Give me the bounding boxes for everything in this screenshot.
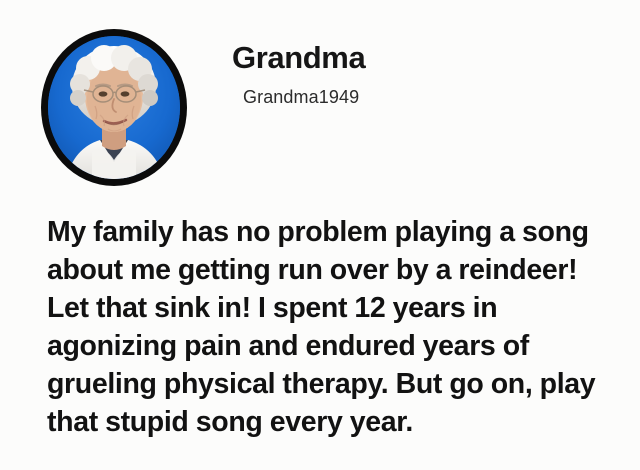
avatar-portrait-icon [48,36,180,179]
author-display-name: Grandma [232,40,612,76]
post-header: Grandma Grandma1949 [0,0,640,200]
avatar[interactable] [41,29,187,186]
author-identity: Grandma Grandma1949 [232,40,612,110]
author-handle: Grandma1949 [243,84,612,110]
post-body: My family has no problem playing a song … [47,213,609,441]
social-post-card: Grandma Grandma1949 My family has no pro… [0,0,640,470]
post-text: My family has no problem playing a song … [47,213,609,441]
